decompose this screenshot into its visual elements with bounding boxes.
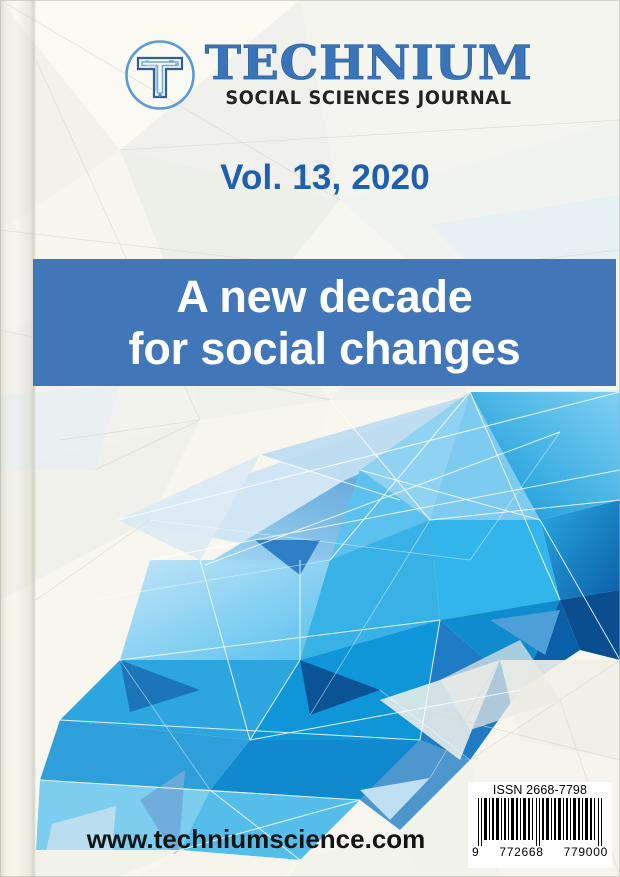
- website-url: www.techniumscience.com: [36, 824, 476, 855]
- journal-cover: TECHNIUM SOCIAL SCIENCES JOURNAL Vol. 13…: [0, 0, 620, 877]
- barcode-digits: 9 772668 779000: [468, 845, 612, 859]
- brand-name: TECHNIUM: [205, 41, 533, 87]
- barcode-digit-group-2: 779000: [564, 845, 608, 859]
- cover-artwork: [0, 0, 620, 877]
- issn-barcode-block: ISSN 2668-7798: [468, 782, 612, 868]
- title-line-1: A new decade: [176, 271, 472, 322]
- issn-label: ISSN 2668-7798: [468, 784, 612, 797]
- title-line-2: for social changes: [129, 323, 521, 374]
- technium-circle-t-logo-icon: [123, 38, 197, 112]
- barcode-digit-left: 9: [472, 845, 479, 859]
- volume-label: Vol. 13, 2020: [36, 158, 614, 198]
- barcode-digit-group-1: 772668: [499, 845, 543, 859]
- masthead: TECHNIUM SOCIAL SCIENCES JOURNAL: [36, 38, 614, 112]
- wordmark: TECHNIUM SOCIAL SCIENCES JOURNAL: [211, 41, 526, 109]
- barcode-bars-icon: [474, 798, 606, 846]
- brand-subtitle: SOCIAL SCIENCES JOURNAL: [218, 90, 520, 109]
- title-banner: A new decade for social changes: [33, 259, 616, 386]
